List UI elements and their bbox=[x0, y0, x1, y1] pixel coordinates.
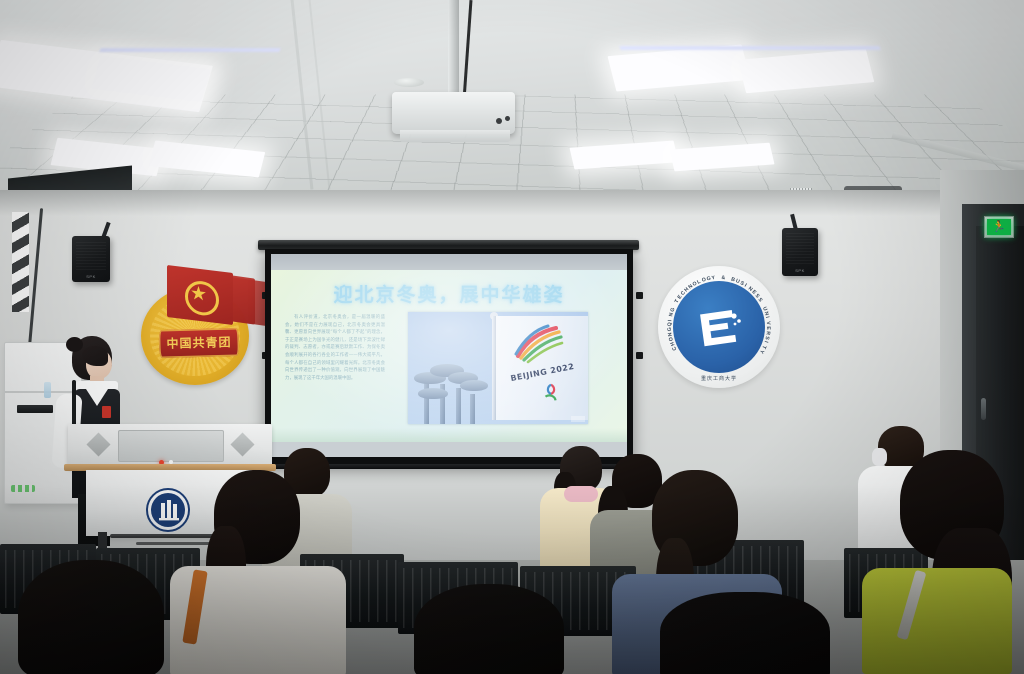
paralympic-agitos-icon bbox=[540, 382, 562, 404]
head bbox=[414, 584, 564, 674]
hair-bun bbox=[66, 337, 83, 352]
striped-column-marker bbox=[12, 212, 29, 312]
communist-youth-league-emblem: ★ 中国共青团 bbox=[135, 263, 270, 387]
slide-title: 迎北京冬奥，展中华雄姿 bbox=[271, 280, 627, 307]
beijing-olympic-tower-icon bbox=[414, 352, 490, 424]
star-icon: ★ bbox=[185, 279, 219, 317]
door-handle[interactable] bbox=[981, 398, 986, 420]
screen-surface: 迎北京冬奥，展中华雄姿 有人评价道，北京冬奥会，是一届温暖的盛会。她们不是在力展… bbox=[271, 254, 627, 457]
ceiling-projector[interactable] bbox=[392, 92, 515, 134]
beijing-2022-flag: BEIJING 2022 bbox=[496, 316, 588, 420]
seal-ring-char: I bbox=[764, 316, 770, 319]
smoke-detector bbox=[394, 78, 424, 87]
screen-clip bbox=[636, 292, 643, 299]
presentation-slide: 迎北京冬奥，展中华雄姿 有人评价道，北京冬奥会，是一届温暖的盛会。她们不是在力展… bbox=[271, 270, 627, 442]
beijing-2022-emblem-icon bbox=[512, 324, 564, 364]
green-markers bbox=[11, 485, 35, 492]
projector-knob bbox=[496, 118, 502, 124]
red-badge bbox=[102, 406, 111, 418]
slide-body-text: 有人评价道，北京冬奥会，是一届温暖的盛会。她们不是在力展现自己，北京冬奥会更具温… bbox=[285, 314, 385, 382]
running-man-icon: 🏃 bbox=[992, 222, 1006, 233]
projector-mount-pole bbox=[448, 0, 459, 96]
screen-clip bbox=[636, 352, 643, 359]
red-flag-icon: ★ bbox=[165, 267, 275, 333]
audience-member-7 bbox=[160, 470, 346, 674]
university-seal: CHONGQING TECHNOLOGY & BUSINESS UNIVERSI… bbox=[658, 266, 780, 388]
seal-monogram-icon bbox=[694, 302, 744, 352]
seal-ring-char: S bbox=[764, 336, 771, 341]
lectern-diamond-ornament bbox=[230, 432, 254, 456]
audience-member-front-right bbox=[640, 592, 850, 674]
emblem-band-text: 中国共青团 bbox=[159, 333, 239, 352]
projector-base-plate bbox=[400, 130, 510, 142]
photo-watermark bbox=[571, 416, 585, 422]
wall-speaker-left: SPK bbox=[72, 236, 110, 282]
seal-ring-char: R bbox=[765, 331, 771, 335]
seal-ring-char: I bbox=[763, 340, 769, 343]
emblem-band: 中国共青团 bbox=[159, 328, 240, 358]
seal-chinese-text: 重庆工商大学 bbox=[658, 375, 780, 382]
projector-knob bbox=[505, 116, 510, 121]
lectern-control-panel[interactable] bbox=[118, 430, 224, 462]
head bbox=[18, 560, 164, 674]
emergency-exit-sign: 🏃 bbox=[984, 216, 1014, 238]
ceiling-light-panel bbox=[738, 49, 874, 93]
ceiling-light-panel bbox=[608, 45, 751, 92]
seal-ring-char: V bbox=[765, 321, 771, 325]
lectern-top bbox=[68, 424, 272, 468]
classroom-scene: SPK SPK ★ 中国共青团 CHONGQING TECHNOLOGY & B… bbox=[0, 0, 1024, 674]
wall-top-shadow bbox=[0, 190, 1024, 216]
lectern-diamond-ornament bbox=[86, 432, 110, 456]
audience-member-6 bbox=[862, 450, 1024, 674]
seal-ring-char: E bbox=[765, 326, 771, 330]
slide-photo: BEIJING 2022 bbox=[408, 312, 588, 424]
flag-caption: BEIJING 2022 bbox=[510, 362, 575, 383]
torso bbox=[862, 568, 1012, 674]
projection-screen[interactable]: 迎北京冬奥，展中华雄姿 有人评价道，北京冬奥会，是一届温暖的盛会。她们不是在力展… bbox=[265, 249, 633, 465]
head bbox=[660, 592, 830, 674]
audience-member-8 bbox=[0, 560, 180, 674]
audience-member-front-center bbox=[390, 584, 590, 674]
wall-speaker-right: SPK bbox=[782, 228, 818, 276]
